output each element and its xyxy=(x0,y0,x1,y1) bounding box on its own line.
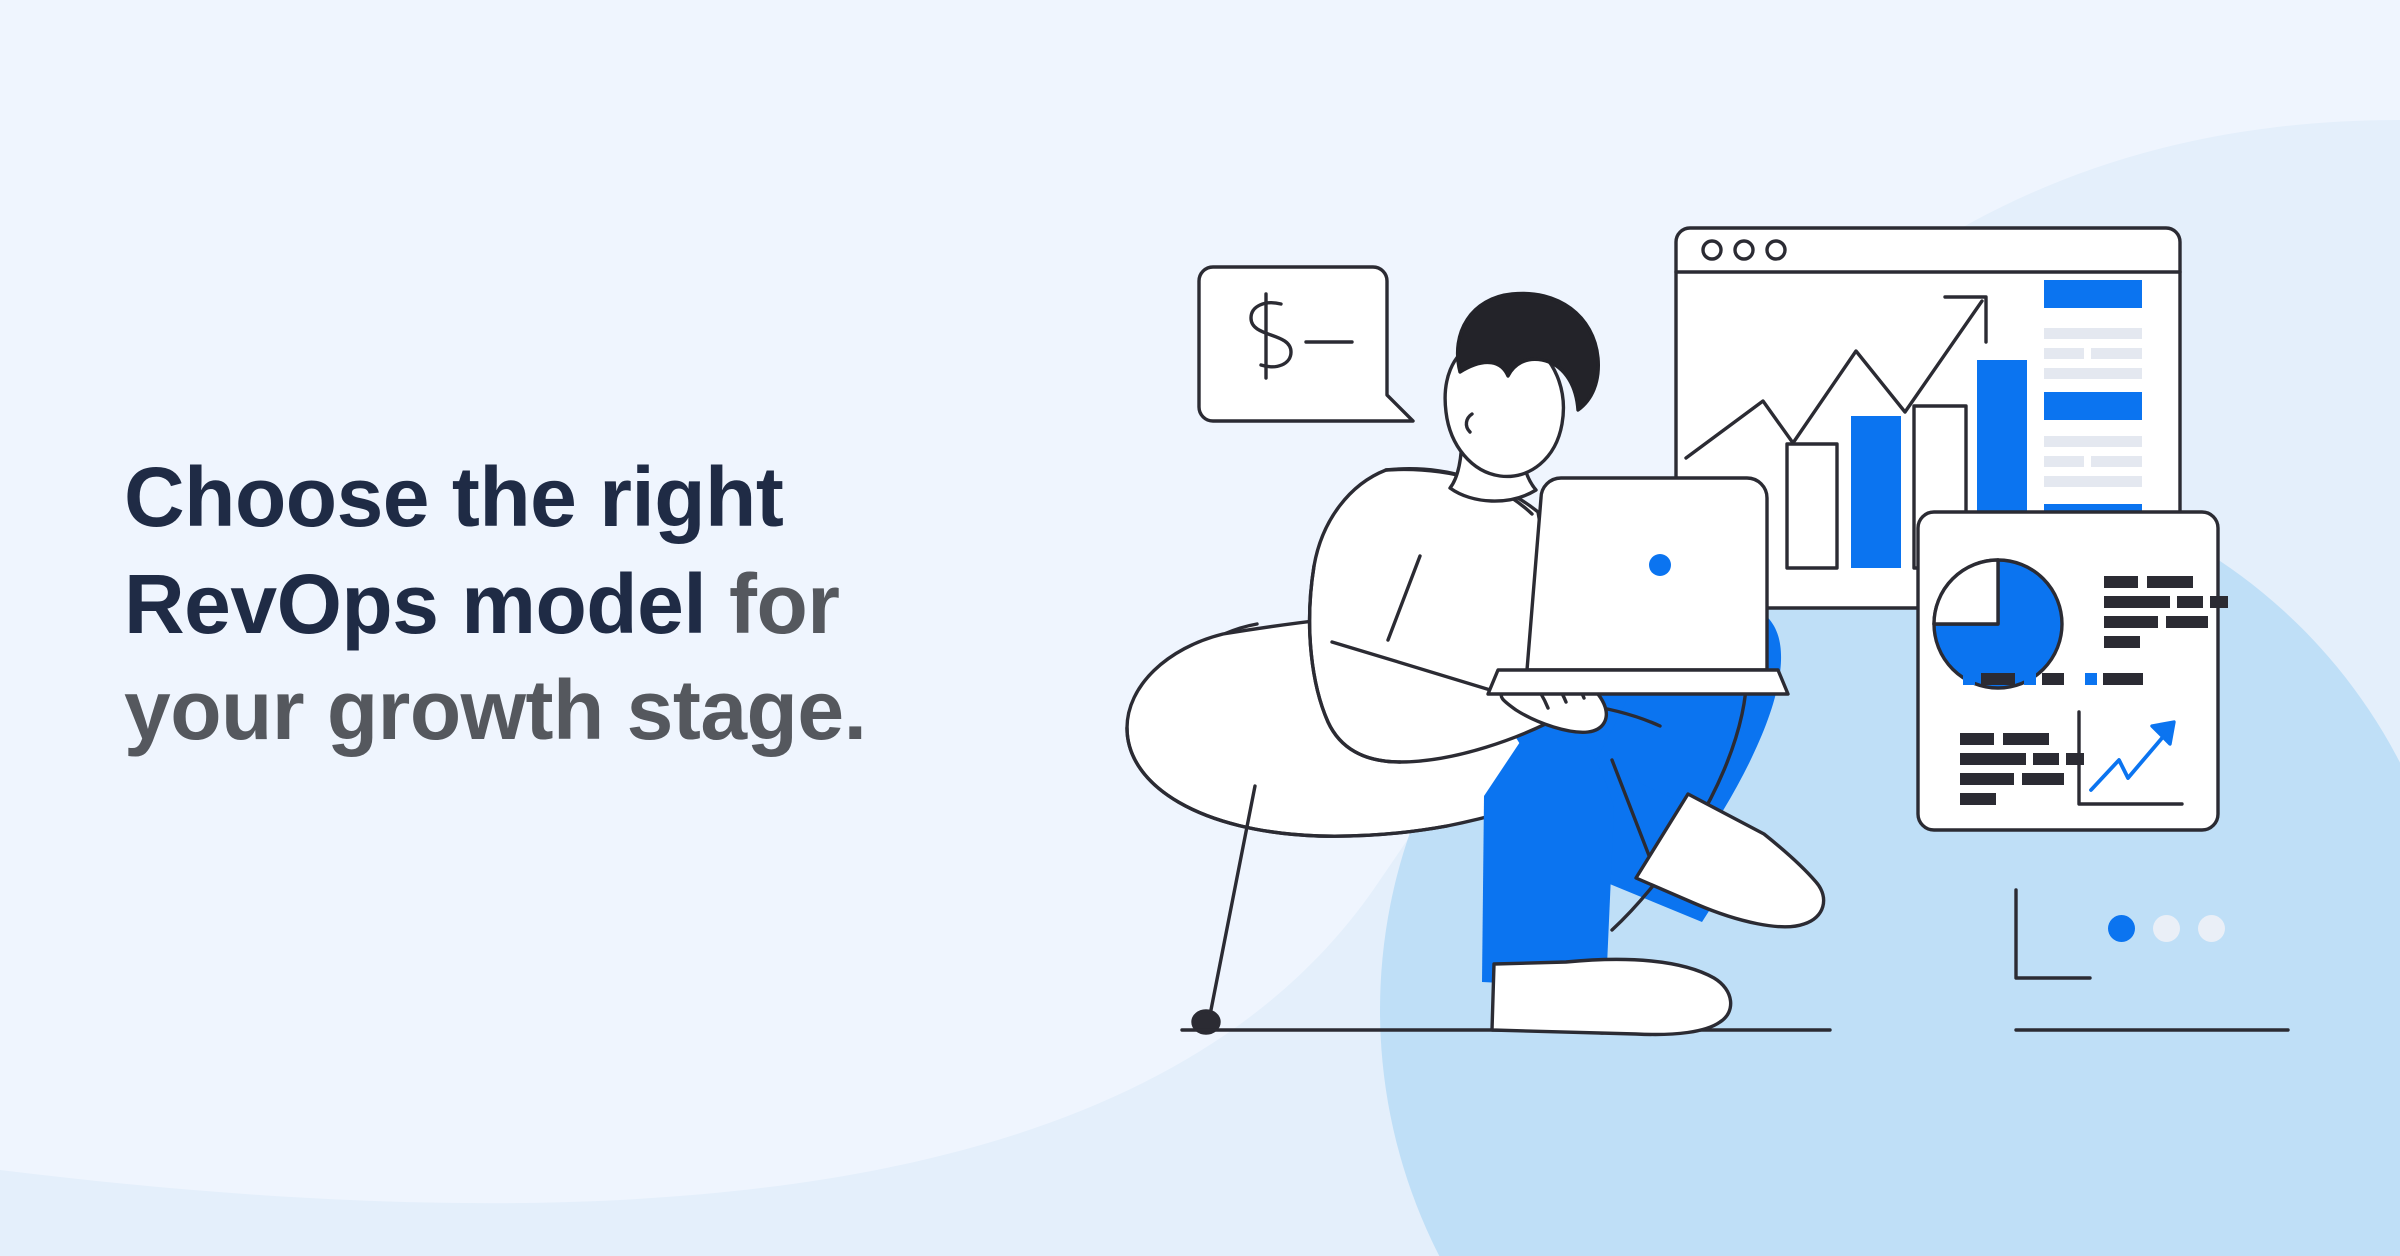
speech-bubble-shape xyxy=(1199,267,1413,421)
sidebar-accent-bar-1 xyxy=(2044,280,2142,308)
report-text-line xyxy=(2177,596,2203,608)
legend-label-2 xyxy=(2042,673,2064,685)
report-text-line xyxy=(1960,753,2026,765)
report-text-line xyxy=(2104,616,2158,628)
chart-bar-solid-2 xyxy=(1851,416,1901,568)
headline-line-2-gray: for xyxy=(706,557,839,651)
legend-swatch-1 xyxy=(1963,673,1975,685)
laptop-base xyxy=(1488,670,1788,694)
report-text-line xyxy=(2147,576,2193,588)
report-text-line xyxy=(1960,793,1996,805)
legend-swatch-3 xyxy=(2085,673,2097,685)
carousel-bracket xyxy=(2016,890,2090,978)
sidebar-text-line xyxy=(2044,348,2084,359)
legend-swatch-2 xyxy=(2024,673,2036,685)
chart-bar-outline-1 xyxy=(1787,444,1837,568)
report-text-line xyxy=(1960,773,2014,785)
report-text-line xyxy=(2022,773,2064,785)
report-text-line xyxy=(2033,753,2059,765)
hero-banner: Choose the right RevOps model for your g… xyxy=(0,0,2400,1256)
carousel-dot-1[interactable] xyxy=(2108,915,2135,942)
report-text-line xyxy=(2210,596,2228,608)
laptop-indicator-dot xyxy=(1649,554,1671,576)
report-text-line xyxy=(2104,636,2140,648)
report-legend xyxy=(1963,673,2143,685)
sidebar-text-line xyxy=(2044,456,2084,467)
sidebar-text-line xyxy=(2091,456,2142,467)
headline-line-2-dark: RevOps model xyxy=(124,557,706,651)
sidebar-text-line xyxy=(2044,476,2142,487)
carousel-dot-3[interactable] xyxy=(2198,915,2225,942)
sidebar-accent-bar-2 xyxy=(2044,392,2142,420)
speech-bubble xyxy=(1199,267,1413,421)
report-card xyxy=(1918,512,2228,830)
page-title: Choose the right RevOps model for your g… xyxy=(124,444,1124,764)
report-text-line xyxy=(2066,753,2084,765)
sidebar-text-line xyxy=(2044,436,2142,447)
report-text-line xyxy=(2166,616,2208,628)
carousel-dots[interactable] xyxy=(2108,915,2225,942)
report-text-line xyxy=(2104,596,2170,608)
headline-line-1: Choose the right xyxy=(124,450,783,544)
laptop-screen xyxy=(1527,478,1767,670)
headline-line-3: your growth stage. xyxy=(124,663,866,757)
report-text-line xyxy=(2104,576,2138,588)
person-shoe-left xyxy=(1492,959,1731,1034)
sidebar-text-line xyxy=(2044,368,2142,379)
carousel-dot-2[interactable] xyxy=(2153,915,2180,942)
report-text-line xyxy=(2003,733,2049,745)
sidebar-text-line xyxy=(2044,328,2142,339)
legend-label-1 xyxy=(1981,673,2015,685)
legend-label-3 xyxy=(2103,673,2143,685)
sidebar-text-line xyxy=(2091,348,2142,359)
report-text-line xyxy=(1960,733,1994,745)
